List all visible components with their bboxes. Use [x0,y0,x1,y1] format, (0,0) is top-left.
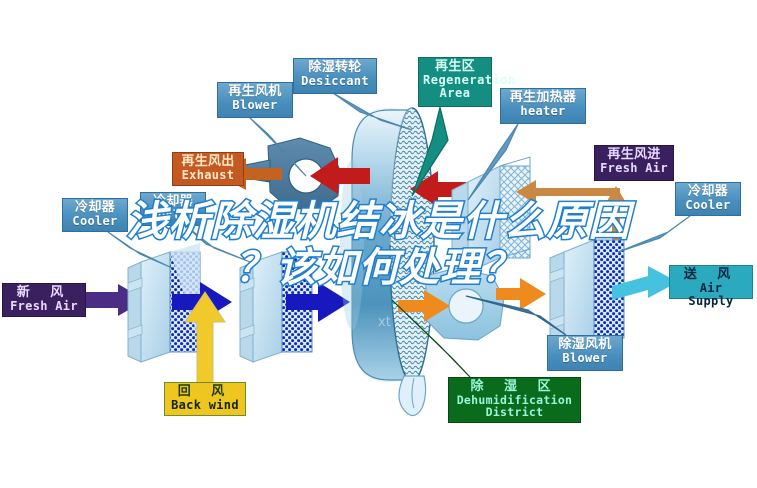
label-cn: 冷却器 [67,201,123,215]
label-en: Dehumidification District [453,394,576,419]
label-regen-area[interactable]: 再生区 Regeneration Area [418,57,492,107]
label-air-supply[interactable]: 送 风 Air Supply [669,265,753,299]
label-cn: 再生风出 [177,155,239,169]
label-en: Desiccant [298,75,372,88]
regen-fresh-arrow [516,180,620,204]
label-en: Blower [222,99,288,112]
label-cn: 冷却器 [145,195,201,209]
label-dehum-district[interactable]: 除 湿 区 Dehumidification District [448,377,581,423]
label-en: Fresh Air [599,162,669,175]
label-fresh-air-process[interactable]: 新 风 Fresh Air [2,283,86,317]
label-cooler-right[interactable]: 冷却器 Cooler [675,182,741,216]
label-cn: 除 湿 区 [453,380,576,394]
label-cooler-left-1[interactable]: 冷却器 Cooler [62,198,128,232]
label-back-wind[interactable]: 回 风 Back wind [164,382,246,416]
label-exhaust[interactable]: 再生风出 Exhaust [172,152,244,186]
rotor-cylinder [340,108,434,382]
label-cn: 除湿风机 [552,338,618,352]
label-en: Back wind [169,399,241,412]
label-en: Fresh Air [7,300,81,313]
label-en: heater [505,105,581,118]
label-en: Air Supply [674,282,748,308]
label-cn: 再生加热器 [505,91,581,105]
diagram-canvas: xt [0,0,757,488]
watermark: xt [378,315,391,330]
label-en: Regeneration Area [423,74,487,100]
label-cn: 冷却器 [680,185,736,199]
label-cn: 再生风进 [599,148,669,162]
label-dehum-blower[interactable]: 除湿风机 Blower [547,335,623,371]
label-regen-heater[interactable]: 再生加热器 heater [500,88,586,124]
label-cn: 再生区 [423,60,487,74]
label-cn: 回 风 [169,385,241,399]
label-cn: 送 风 [674,268,748,282]
drain-cup [399,376,426,416]
label-en: Cooler [145,209,201,222]
label-en: Cooler [67,215,123,228]
label-en: Cooler [680,199,736,212]
label-cooler-left-2[interactable]: 冷却器 Cooler [140,192,206,226]
label-cn: 除湿转轮 [298,61,372,75]
heater-box [452,157,530,272]
label-fresh-air-regen[interactable]: 再生风进 Fresh Air [594,145,674,181]
label-en: Blower [552,352,618,365]
schematic-artwork: xt [0,0,757,488]
label-cn: 再生风机 [222,85,288,99]
label-en: Exhaust [177,169,239,182]
label-cn: 新 风 [7,286,81,300]
label-regen-blower[interactable]: 再生风机 Blower [217,82,293,118]
label-desiccant-rotor[interactable]: 除湿转轮 Desiccant [293,58,377,94]
